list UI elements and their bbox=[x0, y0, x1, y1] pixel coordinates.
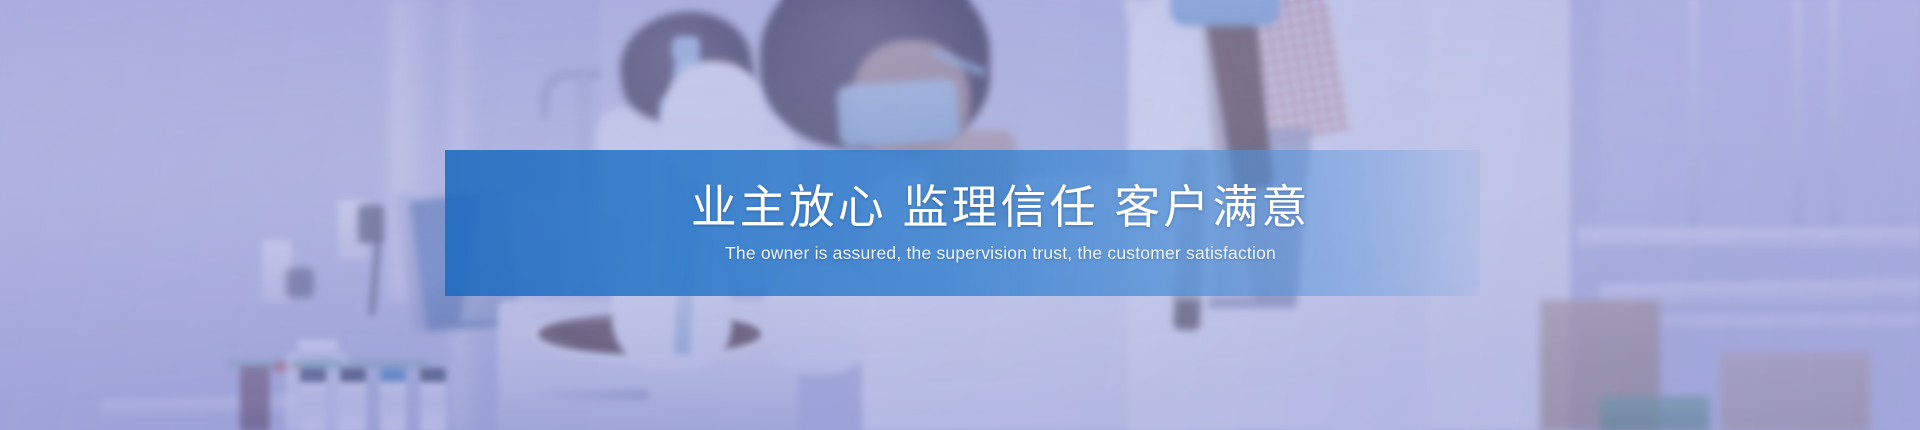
slogan-headline: 业主放心 监理信任 客户满意 bbox=[483, 182, 1518, 234]
slogan-band: 业主放心 监理信任 客户满意 The owner is assured, the… bbox=[445, 150, 1480, 296]
hero-banner: 业主放心 监理信任 客户满意 The owner is assured, the… bbox=[0, 0, 1920, 430]
slogan-subline: The owner is assured, the supervision tr… bbox=[483, 243, 1518, 264]
slogan-text-group: 业主放心 监理信任 客户满意 The owner is assured, the… bbox=[483, 182, 1518, 265]
